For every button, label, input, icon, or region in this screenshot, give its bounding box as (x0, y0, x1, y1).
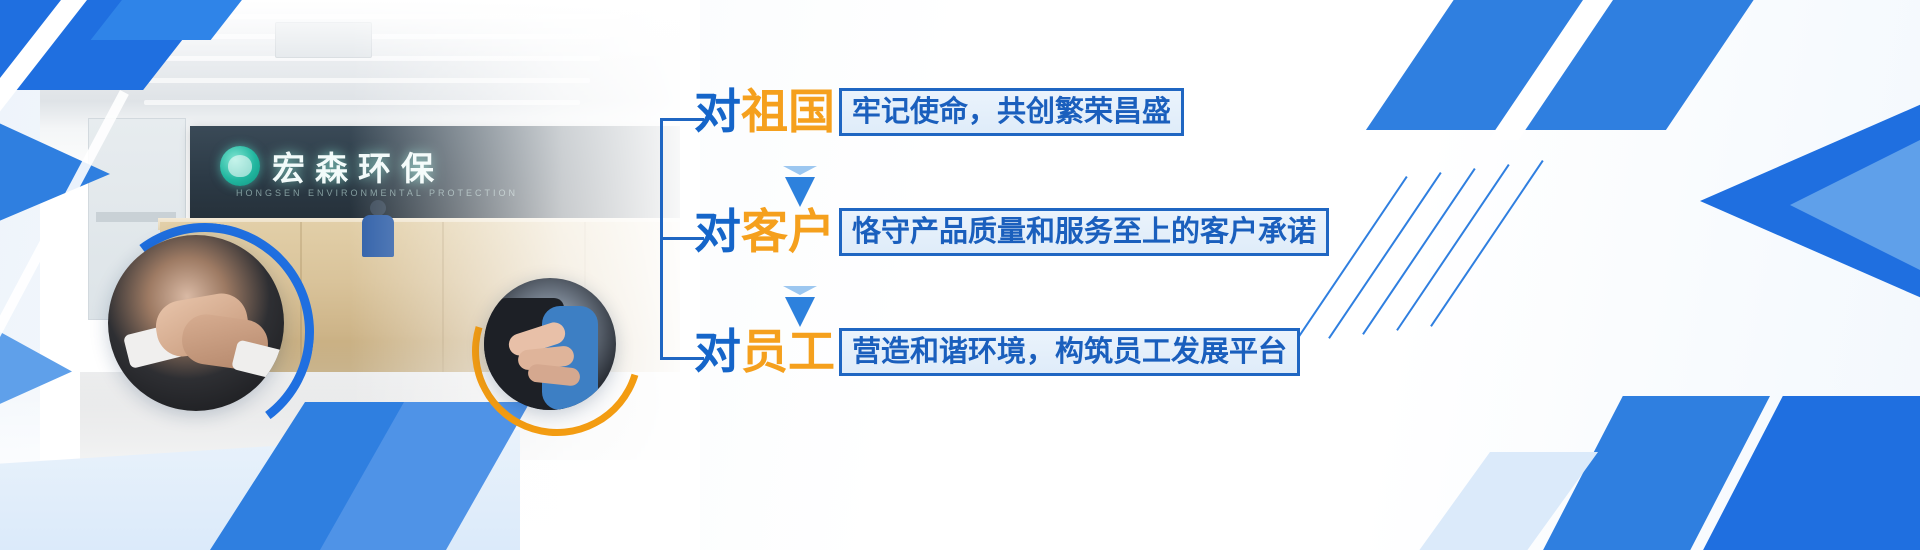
value-prefix: 对 (694, 85, 741, 140)
deco-right-white-slash-top (1489, 0, 1654, 140)
company-logo-text: 宏森环保 (272, 142, 444, 190)
value-target: 客户 (741, 205, 835, 260)
value-statement-nation: 牢记使命，共创繁荣昌盛 (839, 88, 1184, 136)
deco-right-blue-wedge-light (1790, 130, 1920, 280)
gesturing-hands-photo (484, 278, 616, 410)
value-row-nation: 对祖国 牢记使命，共创繁荣昌盛 (694, 88, 1184, 136)
ceiling-slat (144, 100, 580, 105)
ceiling-slat (132, 78, 590, 83)
value-target: 祖国 (741, 85, 835, 140)
value-statement-employee: 营造和谐环境，构筑员工发展平台 (839, 328, 1300, 376)
company-logo: 宏森环保 (220, 142, 444, 190)
values-list: 对祖国 牢记使命，共创繁荣昌盛 对客户 恪守产品质量和服务至上的客户承诺 对员工… (650, 0, 1430, 550)
deco-right-bottom-shape-2 (1700, 396, 1920, 550)
counter-seam (442, 222, 444, 372)
deco-right-bottom-shape (1540, 396, 1770, 550)
deco-thin-line (1430, 160, 1543, 327)
value-prefix: 对 (694, 325, 741, 380)
deco-right-bottom-light (1418, 452, 1598, 550)
value-row-customer: 对客户 恪守产品质量和服务至上的客户承诺 (694, 208, 1329, 256)
deco-right-blue-wedge (1700, 96, 1920, 306)
reception-staff (360, 200, 396, 256)
handshake-photo (108, 235, 284, 411)
counter-seam (300, 222, 302, 372)
company-logo-subtext: HONGSEN ENVIRONMENTAL PROTECTION (236, 188, 518, 198)
value-row-employee: 对员工 营造和谐环境，构筑员工发展平台 (694, 328, 1300, 376)
value-prefix: 对 (694, 205, 741, 260)
office-photo-collage: 宏森环保 HONGSEN ENVIRONMENTAL PROTECTION (0, 0, 700, 550)
value-statement-customer: 恪守产品质量和服务至上的客户承诺 (839, 208, 1329, 256)
ceiling-vent (275, 22, 372, 58)
value-heading-employee: 对员工 (694, 329, 835, 376)
value-heading-customer: 对客户 (694, 209, 835, 256)
ceiling-slat (100, 14, 620, 19)
deco-right-blue-shape-top (1366, 0, 1794, 130)
value-heading-nation: 对祖国 (694, 89, 835, 136)
value-target: 员工 (741, 325, 835, 380)
corporate-values-banner: 宏森环保 HONGSEN ENVIRONMENTAL PROTECTION (0, 0, 1920, 550)
globe-leaf-icon (220, 146, 260, 186)
